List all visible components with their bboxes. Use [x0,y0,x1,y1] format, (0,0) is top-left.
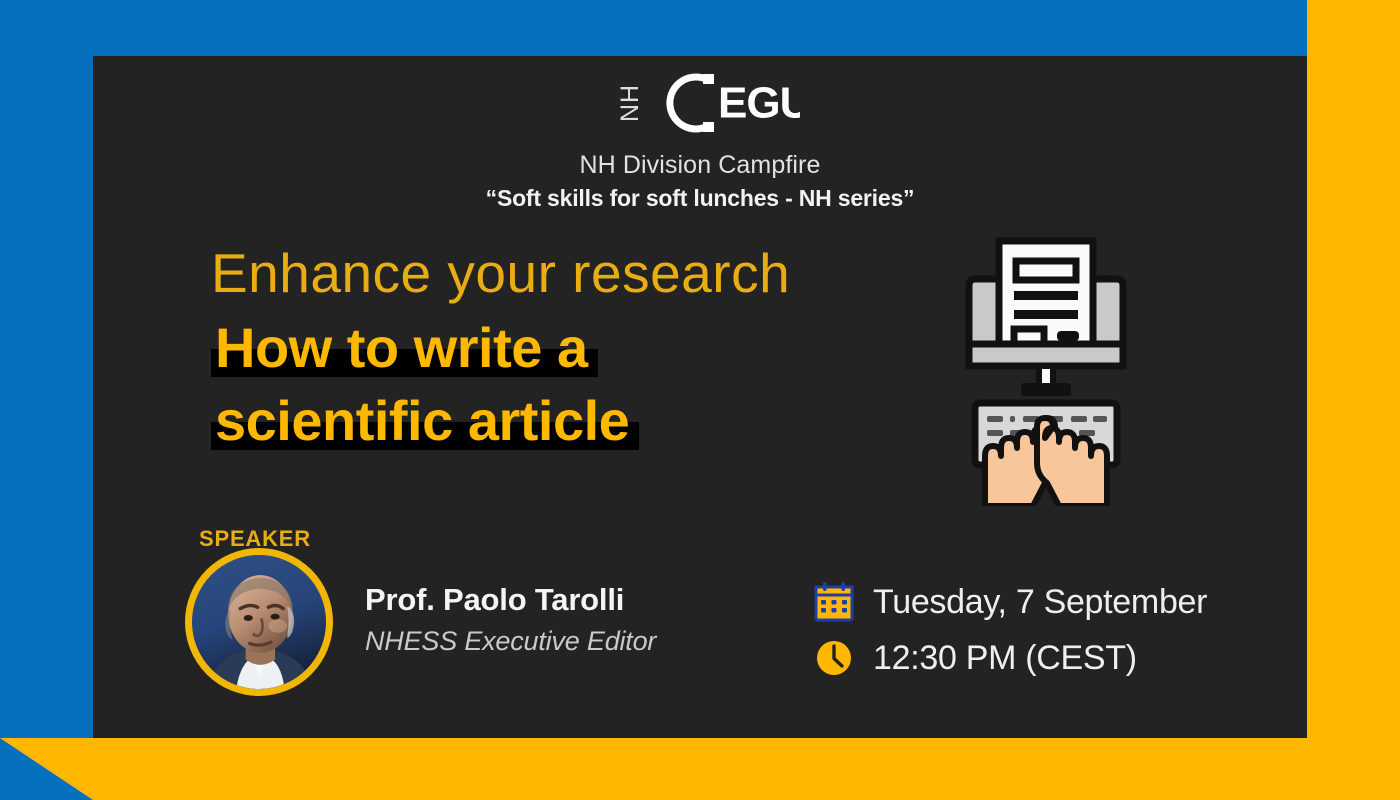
calendar-icon [813,581,855,623]
headline-block: Enhance your research How to write a sci… [211,246,991,451]
headline-line-1: How to write a [211,319,592,378]
speaker-name: Prof. Paolo Tarolli [365,582,656,618]
event-date-row: Tuesday, 7 September [813,581,1207,623]
speaker-portrait [185,548,333,696]
clock-icon [813,637,855,679]
event-when-block: Tuesday, 7 September 12:30 PM (CEST) [813,581,1207,693]
svg-text:EGU: EGU [718,79,800,128]
bottom-left-blue-triangle [0,738,93,800]
headline-line-2: scientific article [211,392,633,451]
speaker-role: NHESS Executive Editor [365,626,656,657]
headline-eyebrow: Enhance your research [211,246,991,301]
header-block: NH EGU NH Division Campfire “Soft skills… [93,66,1307,212]
event-poster: NH EGU NH Division Campfire “Soft skills… [0,0,1400,800]
top-right-yellow-triangle [1314,0,1400,56]
computer-typing-hands-icon [961,231,1131,506]
series-line: “Soft skills for soft lunches - NH serie… [93,185,1307,212]
speaker-text: Prof. Paolo Tarolli NHESS Executive Edit… [365,582,656,663]
event-time: 12:30 PM (CEST) [873,639,1137,678]
dark-content-panel: NH EGU NH Division Campfire “Soft skills… [93,56,1307,738]
division-line: NH Division Campfire [93,151,1307,180]
event-time-row: 12:30 PM (CEST) [813,637,1207,679]
right-yellow-band [1307,0,1400,800]
egu-nh-logo: NH EGU [600,66,800,140]
bottom-yellow-band [0,738,1400,800]
speaker-block: SPEAKER [185,526,656,696]
event-date: Tuesday, 7 September [873,583,1207,622]
svg-text:NH: NH [616,84,644,122]
